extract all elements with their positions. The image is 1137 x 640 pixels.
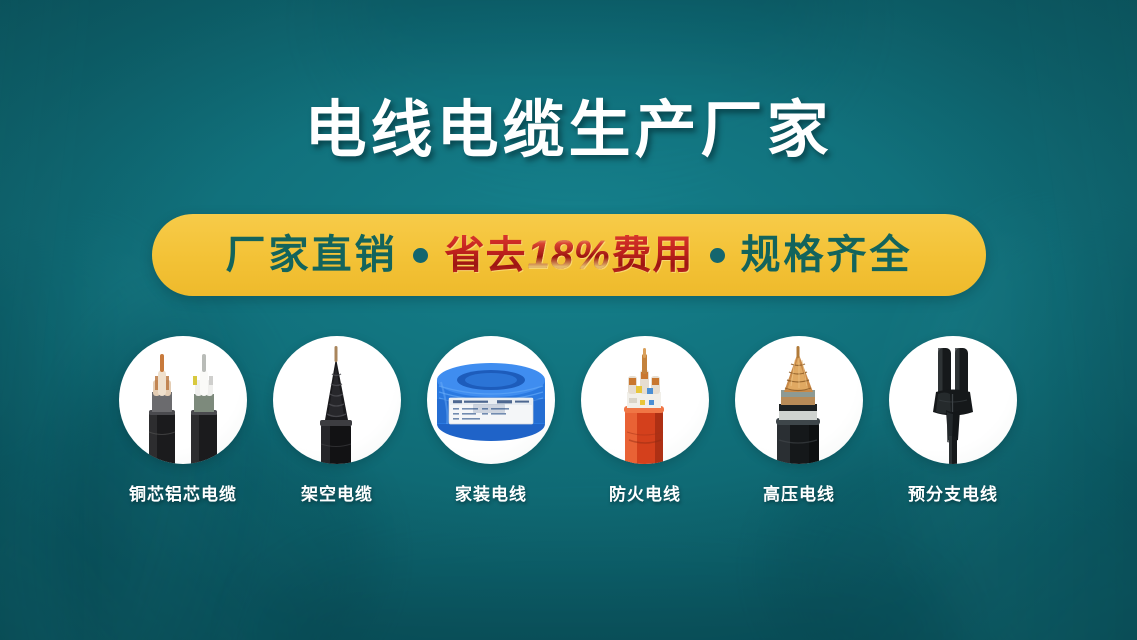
product-label: 架空电缆 <box>301 480 373 505</box>
product-label: 预分支电线 <box>908 480 998 505</box>
product-label: 高压电线 <box>763 480 835 505</box>
product-item[interactable]: 架空电缆 <box>272 336 402 505</box>
product-thumbnail <box>735 336 863 464</box>
highlight-prefix: 省去 <box>444 233 526 277</box>
high-voltage-wire-icon <box>735 336 863 464</box>
bullet-dot-icon <box>710 248 725 263</box>
product-item[interactable]: 预分支电线 <box>888 336 1018 505</box>
selling-points-banner: 厂家直销 省去18%费用 规格齐全 <box>152 214 986 296</box>
product-item[interactable]: 防火电线 <box>580 336 710 505</box>
banner-left-text: 厂家直销 <box>225 235 397 275</box>
copper-aluminum-core-cable-icon <box>119 336 247 464</box>
product-list: 铜芯铝芯电缆 <box>118 336 1018 505</box>
product-item[interactable]: 高压电线 <box>734 336 864 505</box>
product-thumbnail <box>581 336 709 464</box>
product-label: 铜芯铝芯电缆 <box>129 480 237 505</box>
product-thumbnail <box>119 336 247 464</box>
product-label: 防火电线 <box>609 480 681 505</box>
product-label: 家装电线 <box>455 480 527 505</box>
overhead-cable-icon <box>273 336 401 464</box>
product-item[interactable]: 铜芯铝芯电缆 <box>118 336 248 505</box>
bullet-dot-icon <box>413 248 428 263</box>
pre-branched-wire-icon <box>889 336 1017 464</box>
product-item[interactable]: 家装电线 <box>426 336 556 505</box>
fire-resistant-wire-icon <box>581 336 709 464</box>
product-thumbnail <box>427 336 555 464</box>
banner-highlight-text: 省去18%费用 <box>444 235 693 275</box>
promo-banner-canvas: 电线电缆生产厂家 厂家直销 省去18%费用 规格齐全 <box>0 0 1137 640</box>
product-thumbnail <box>889 336 1017 464</box>
page-title: 电线电缆生产厂家 <box>0 100 1137 162</box>
highlight-suffix: 费用 <box>612 233 694 277</box>
product-thumbnail <box>273 336 401 464</box>
house-wiring-coil-icon <box>427 336 555 464</box>
banner-right-text: 规格齐全 <box>741 235 913 275</box>
discount-percent: 18% <box>526 235 611 275</box>
